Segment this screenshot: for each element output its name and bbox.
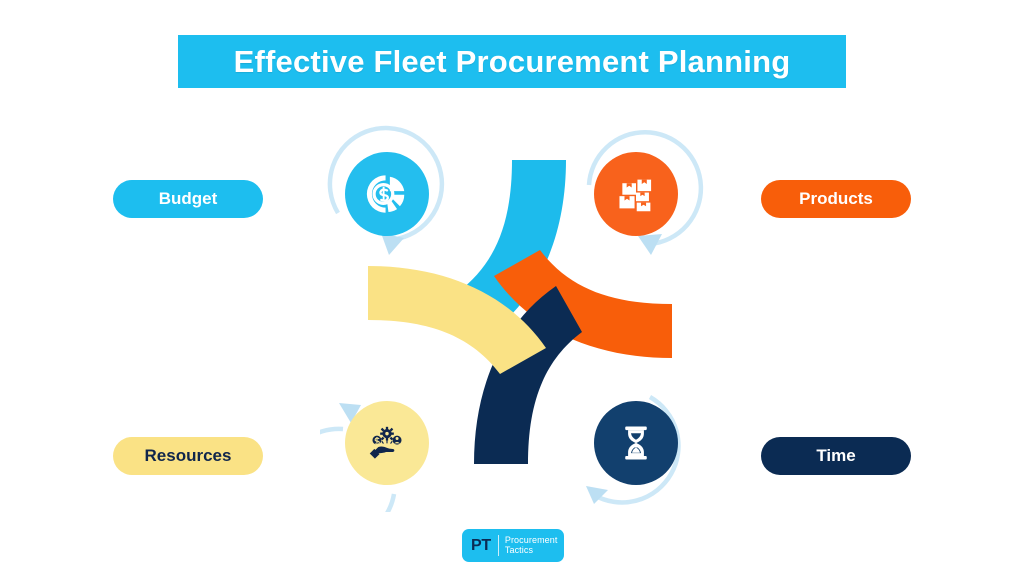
icon-badge-time[interactable] <box>594 401 678 485</box>
label-pill-products-text: Products <box>799 189 873 209</box>
logo-wordmark: Procurement Tactics <box>505 536 558 555</box>
page-title: Effective Fleet Procurement Planning <box>234 44 791 80</box>
icon-badge-resources[interactable] <box>345 401 429 485</box>
label-pill-time-text: Time <box>816 446 855 466</box>
page-title-banner: Effective Fleet Procurement Planning <box>178 35 846 88</box>
logo-divider <box>498 535 499 556</box>
hourglass-icon <box>613 420 659 466</box>
stacked-boxes-icon <box>613 171 659 217</box>
hand-resources-icon <box>364 420 410 466</box>
label-pill-budget[interactable]: Budget <box>113 180 263 218</box>
pie-chart-dollar-icon <box>364 171 410 217</box>
label-pill-resources[interactable]: Resources <box>113 437 263 475</box>
label-pill-resources-text: Resources <box>145 446 232 466</box>
icon-badge-products[interactable] <box>594 152 678 236</box>
label-pill-time[interactable]: Time <box>761 437 911 475</box>
label-pill-products[interactable]: Products <box>761 180 911 218</box>
icon-badge-budget[interactable] <box>345 152 429 236</box>
logo-monogram: PT <box>471 538 491 554</box>
label-pill-budget-text: Budget <box>159 189 218 209</box>
procurement-tactics-logo[interactable]: PT Procurement Tactics <box>462 529 564 562</box>
logo-line-2: Tactics <box>505 546 558 556</box>
